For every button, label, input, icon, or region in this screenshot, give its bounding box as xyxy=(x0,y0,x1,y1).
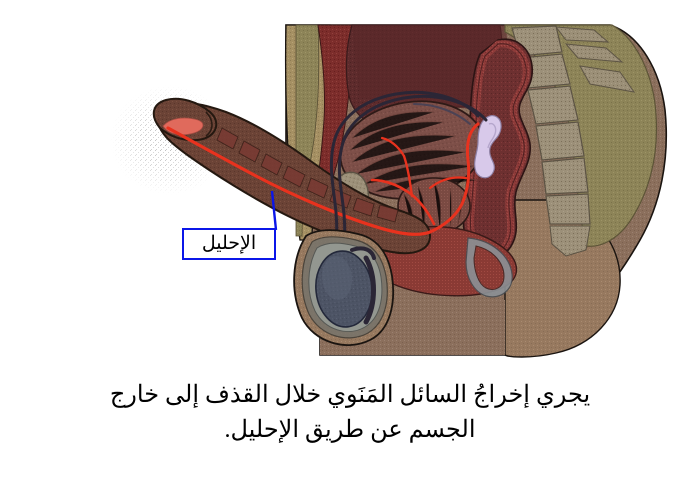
caption-line-1: يجري إخراجُ السائل المَنَوي خلال القذف إ… xyxy=(70,378,630,413)
scrotum xyxy=(294,230,393,345)
urethra-label-box[interactable]: الإحليل xyxy=(182,228,276,260)
illustration-page: الإحليل يجري إخراجُ السائل المَنَوي خلال… xyxy=(0,0,700,480)
urethra-label-text: الإحليل xyxy=(202,234,256,255)
male-pelvis-anatomy-illustration xyxy=(0,0,700,370)
caption: يجري إخراجُ السائل المَنَوي خلال القذف إ… xyxy=(70,378,630,448)
caption-line-2: الجسم عن طريق الإحليل. xyxy=(70,413,630,448)
